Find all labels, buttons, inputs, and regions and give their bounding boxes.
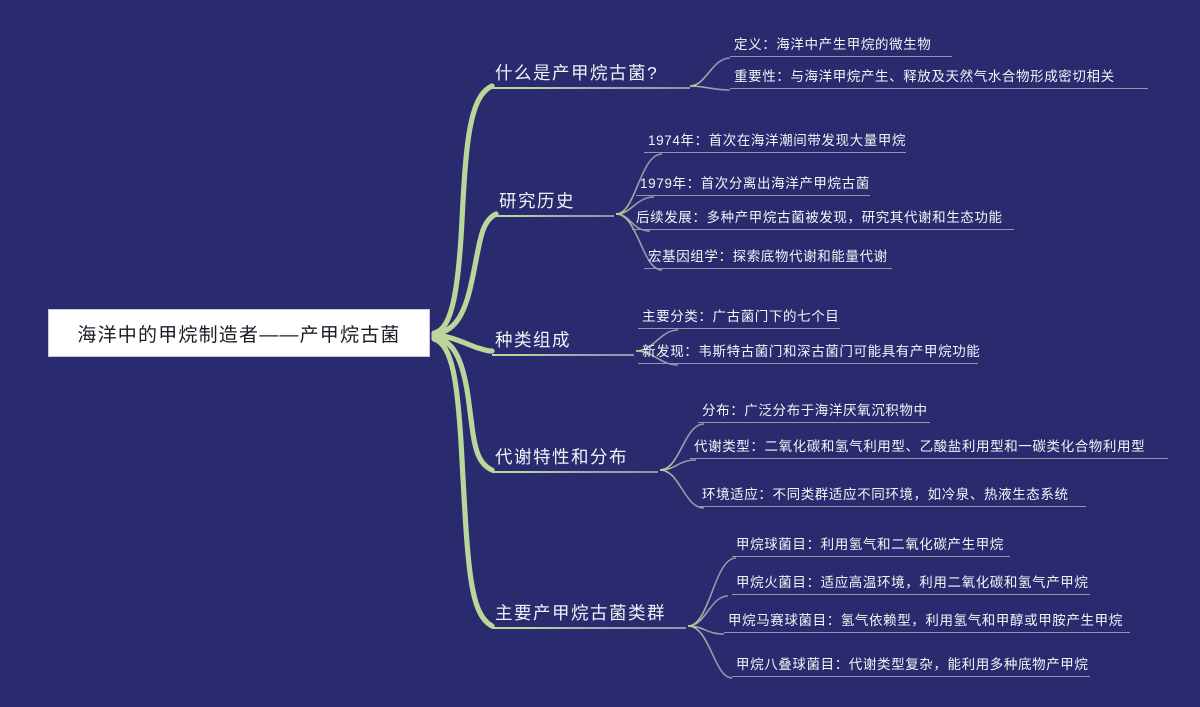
branch-node-4-underline [492,471,658,473]
leaf-node-5-4[interactable]: 甲烷八叠球菌目：代谢类型复杂，能利用多种底物产甲烷 [732,656,1090,677]
leaf-node-5-1-label: 甲烷球菌目：利用氢气和二氧化碳产生甲烷 [732,536,1010,556]
branch-node-2-label: 研究历史 [496,190,614,215]
leaf-node-3-2-label: 新发现：韦斯特古菌门和深古菌门可能具有产甲烷功能 [638,343,978,363]
leaf-node-1-2-label: 重要性：与海洋甲烷产生、释放及天然气水合物形成密切相关 [730,68,1148,88]
leaf-node-2-2-label: 1979年：首次分离出海洋产甲烷古菌 [636,175,870,195]
leaf-node-5-2[interactable]: 甲烷火菌目：适应高温环境，利用二氧化碳和氢气产甲烷 [732,574,1090,595]
leaf-node-5-3-underline [724,632,1130,633]
leaf-node-3-1-label: 主要分类：广古菌门下的七个目 [638,308,840,328]
leaf-node-2-4-underline [644,268,892,269]
leaf-node-5-4-label: 甲烷八叠球菌目：代谢类型复杂，能利用多种底物产甲烷 [732,656,1090,676]
leaf-node-5-1[interactable]: 甲烷球菌目：利用氢气和二氧化碳产生甲烷 [732,536,1010,557]
leaf-node-2-2[interactable]: 1979年：首次分离出海洋产甲烷古菌 [636,175,870,196]
branch-node-5-underline [492,627,686,629]
leaf-node-2-4[interactable]: 宏基因组学：探索底物代谢和能量代谢 [644,248,892,269]
mindmap-canvas: 海洋中的甲烷制造者——产甲烷古菌 什么是产甲烷古菌? 定义：海洋中产生甲烷的微生… [0,0,1200,707]
leaf-node-2-1-underline [644,152,906,153]
leaf-node-2-3[interactable]: 后续发展：多种产甲烷古菌被发现，研究其代谢和生态功能 [632,209,1014,230]
leaf-node-4-3[interactable]: 环境适应：不同类群适应不同环境，如冷泉、热液生态系统 [698,486,1086,507]
leaf-node-3-1[interactable]: 主要分类：广古菌门下的七个目 [638,308,840,329]
branch-node-5[interactable]: 主要产甲烷古菌类群 [492,602,686,629]
leaf-node-3-2[interactable]: 新发现：韦斯特古菌门和深古菌门可能具有产甲烷功能 [638,343,978,364]
leaf-node-4-2-underline [690,458,1168,459]
branch-node-1-underline [492,87,690,89]
leaf-node-5-3[interactable]: 甲烷马赛球菌目：氢气依赖型，利用氢气和甲醇或甲胺产生甲烷 [724,612,1130,633]
leaf-node-1-1-underline [730,56,952,57]
branch-node-3-label: 种类组成 [492,329,634,354]
leaf-node-4-1-label: 分布：广泛分布于海洋厌氧沉积物中 [698,402,930,422]
leaf-node-4-3-label: 环境适应：不同类群适应不同环境，如冷泉、热液生态系统 [698,486,1086,506]
branch-node-1-label: 什么是产甲烷古菌? [492,62,690,87]
leaf-node-2-3-label: 后续发展：多种产甲烷古菌被发现，研究其代谢和生态功能 [632,209,1014,229]
leaf-node-5-2-underline [732,594,1090,595]
branch-node-2-underline [496,215,614,217]
branch-node-5-label: 主要产甲烷古菌类群 [492,602,686,627]
leaf-node-4-2[interactable]: 代谢类型：二氧化碳和氢气利用型、乙酸盐利用型和一碳类化合物利用型 [690,438,1168,459]
leaf-node-5-3-label: 甲烷马赛球菌目：氢气依赖型，利用氢气和甲醇或甲胺产生甲烷 [724,612,1130,632]
branch-node-3-underline [492,354,634,356]
branch-node-2[interactable]: 研究历史 [496,190,614,217]
leaf-node-4-1-underline [698,422,930,423]
root-node[interactable]: 海洋中的甲烷制造者——产甲烷古菌 [48,309,430,357]
root-node-label: 海洋中的甲烷制造者——产甲烷古菌 [77,320,400,347]
leaf-node-2-2-underline [636,195,870,196]
leaf-node-5-4-underline [732,676,1090,677]
leaf-node-1-2-underline [730,88,1148,89]
branch-node-4-label: 代谢特性和分布 [492,446,658,471]
branch-node-4[interactable]: 代谢特性和分布 [492,446,658,473]
leaf-node-1-1[interactable]: 定义：海洋中产生甲烷的微生物 [730,36,952,57]
leaf-node-5-2-label: 甲烷火菌目：适应高温环境，利用二氧化碳和氢气产甲烷 [732,574,1090,594]
branch-node-1[interactable]: 什么是产甲烷古菌? [492,62,690,89]
leaf-node-3-2-underline [638,363,978,364]
leaf-node-2-3-underline [632,229,1014,230]
leaf-node-5-1-underline [732,556,1010,557]
leaf-node-3-1-underline [638,328,840,329]
leaf-node-2-1-label: 1974年：首次在海洋潮间带发现大量甲烷 [644,132,906,152]
leaf-node-2-4-label: 宏基因组学：探索底物代谢和能量代谢 [644,248,892,268]
leaf-node-2-1[interactable]: 1974年：首次在海洋潮间带发现大量甲烷 [644,132,906,153]
leaf-node-1-2[interactable]: 重要性：与海洋甲烷产生、释放及天然气水合物形成密切相关 [730,68,1148,89]
leaf-node-4-1[interactable]: 分布：广泛分布于海洋厌氧沉积物中 [698,402,930,423]
leaf-node-4-3-underline [698,506,1086,507]
leaf-node-4-2-label: 代谢类型：二氧化碳和氢气利用型、乙酸盐利用型和一碳类化合物利用型 [690,438,1168,458]
branch-node-3[interactable]: 种类组成 [492,329,634,356]
leaf-node-1-1-label: 定义：海洋中产生甲烷的微生物 [730,36,952,56]
